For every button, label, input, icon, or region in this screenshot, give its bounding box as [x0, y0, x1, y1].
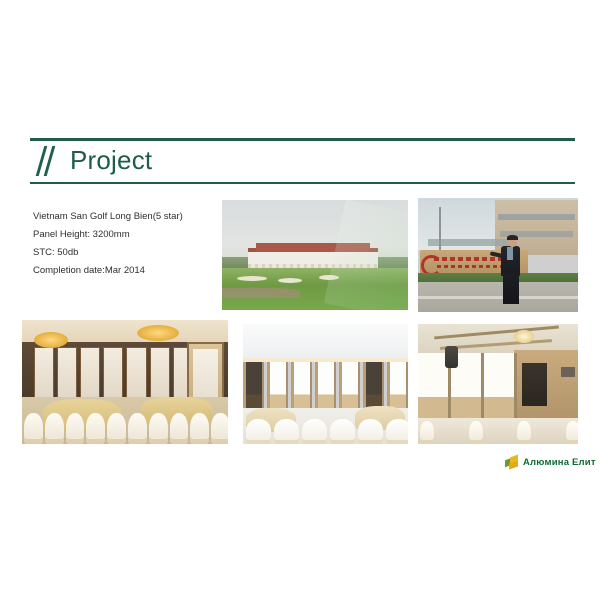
leaf-icon — [505, 456, 519, 469]
project-spec-list: Vietnam San Golf Long Bien(5 star) Panel… — [33, 208, 218, 280]
slide-header: Project — [30, 138, 575, 192]
spec-line-stc: STC: 50db — [33, 244, 218, 262]
spec-line-panel-height: Panel Height: 3200mm — [33, 226, 218, 244]
slide-canvas: Project Vietnam San Golf Long Bien(5 sta… — [0, 0, 600, 600]
photo-golf-clubhouse: Golf clubhouse exterior with fairway and… — [222, 200, 408, 310]
photo-hall-white: Bright white dining hall with light wood… — [243, 324, 408, 444]
header-rule-bottom — [30, 182, 575, 184]
brand-logo: Алюмина Елит — [505, 454, 596, 470]
photo-banquet-hall-gold: Banquet hall with chandeliers, gold tabl… — [22, 320, 228, 444]
photo-hall-wood: Wood panelled hall with operable partiti… — [418, 324, 578, 444]
spec-line-completion-date: Completion date:Mar 2014 — [33, 262, 218, 280]
brand-logo-text: Алюмина Елит — [523, 457, 596, 468]
spec-line-project-name: Vietnam San Golf Long Bien(5 star) — [33, 208, 218, 226]
page-title: Project — [70, 142, 152, 178]
double-slash-icon — [35, 146, 63, 176]
photo-entrance-sign: Man in suit at stone entrance sign — [418, 198, 578, 312]
header-rule-top — [30, 138, 575, 141]
